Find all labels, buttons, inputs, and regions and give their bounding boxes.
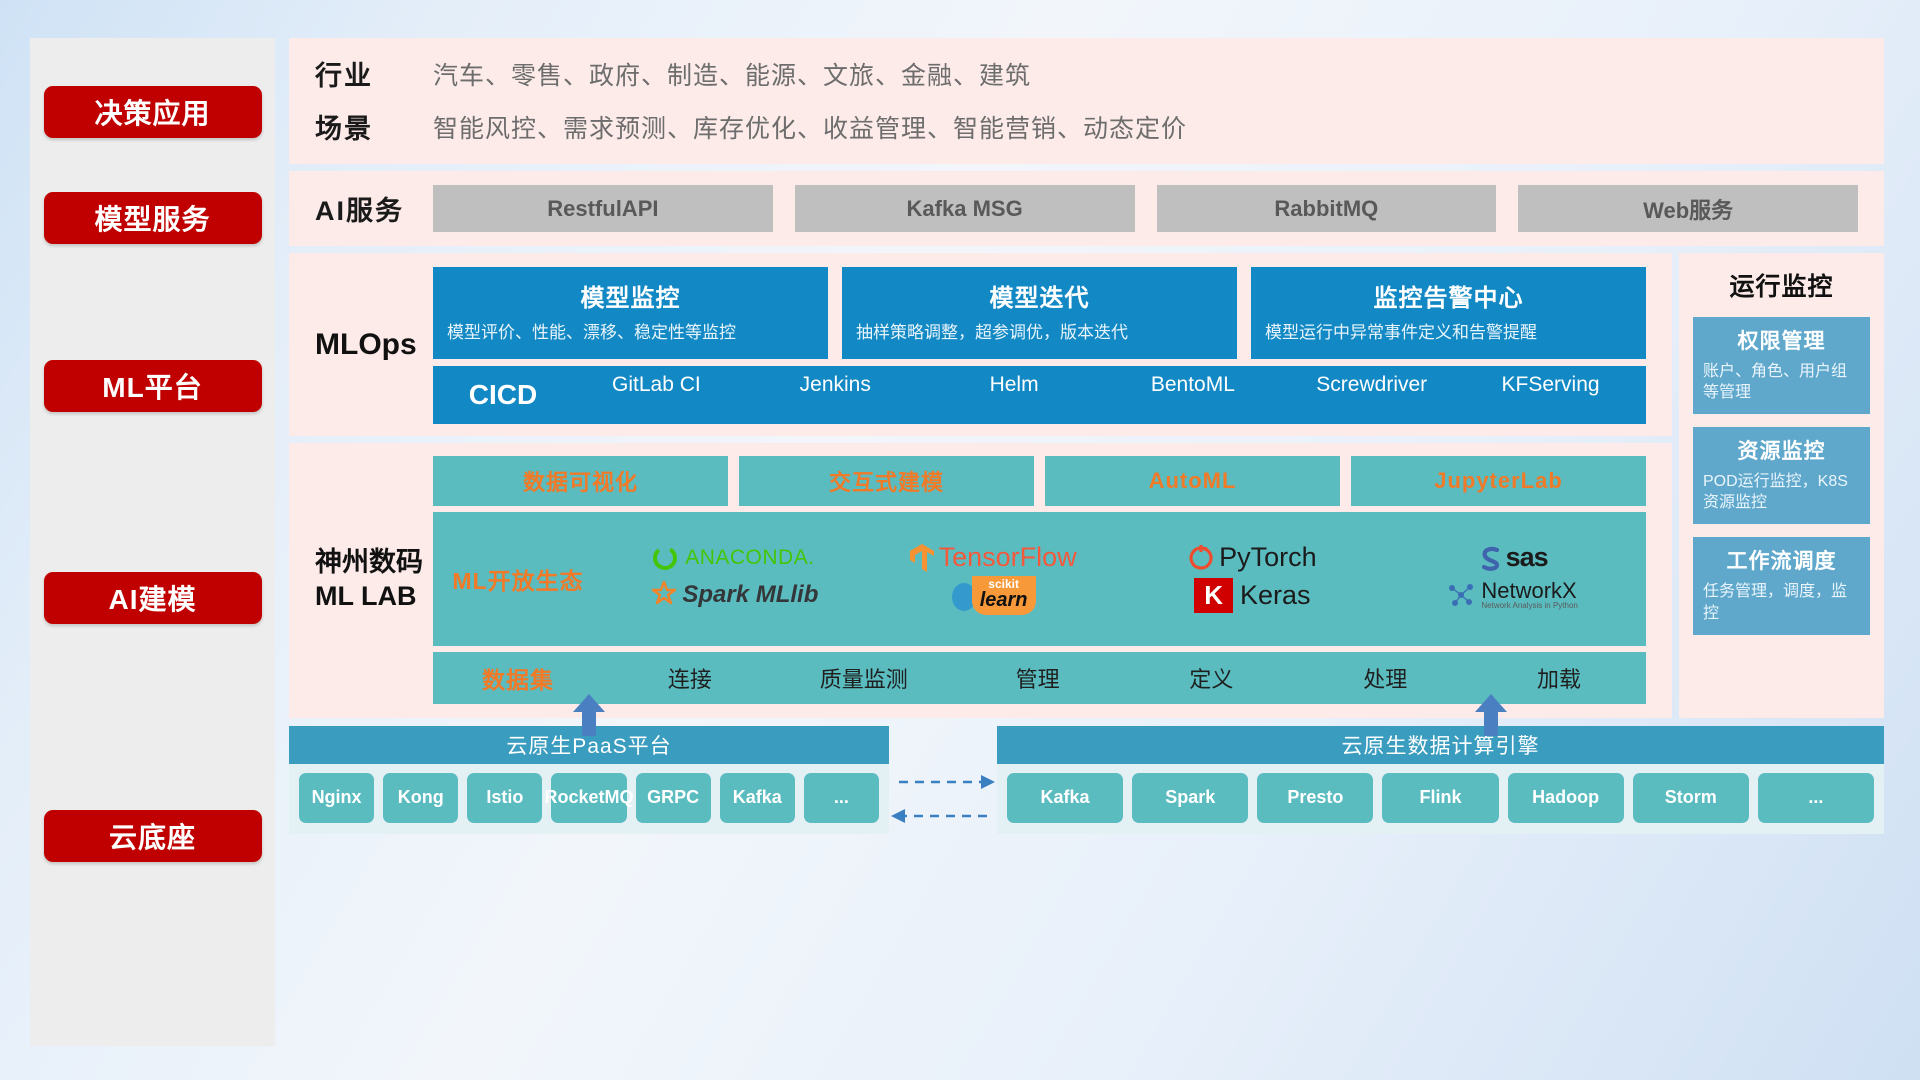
card-title: 模型迭代 [856, 278, 1223, 313]
rail-item-cloud-base[interactable]: 云底座 [44, 810, 262, 862]
cicd-item-jenkins[interactable]: Jenkins [746, 372, 925, 418]
card-desc: 抽样策略调整，超参调优，版本迭代 [856, 322, 1223, 345]
dataset-item-load[interactable]: 加载 [1472, 662, 1646, 694]
dataset-item-manage[interactable]: 管理 [951, 662, 1125, 694]
ml-lab-band: 神州数码 ML LAB 数据可视化 交互式建模 AutoML JupyterLa… [289, 443, 1672, 718]
card-title: 权限管理 [1703, 325, 1860, 355]
compute-chip-hadoop[interactable]: Hadoop [1508, 773, 1624, 823]
cicd-row: CICD GitLab CI Jenkins Helm BentoML Scre… [433, 366, 1646, 424]
paas-chip-kong[interactable]: Kong [383, 773, 458, 823]
anaconda-label: ANACONDA. [685, 546, 814, 570]
rail-item-model-service[interactable]: 模型服务 [44, 192, 262, 244]
scikit-learn-logo: scikit learn [950, 575, 1036, 615]
ai-service-band: AI服务 RestfulAPI Kafka MSG RabbitMQ Web服务 [289, 171, 1884, 246]
ml-lab-label-line1: 神州数码 [315, 546, 423, 579]
scenario-value: 智能风控、需求预测、库存优化、收益管理、智能营销、动态定价 [433, 109, 1187, 145]
layer-rail: 决策应用 模型服务 ML平台 AI建模 云底座 [30, 38, 275, 1046]
cloud-base-band: 云原生PaaS平台 Nginx Kong Istio RocketMQ GRPC… [289, 726, 1884, 858]
paas-chip-more[interactable]: ... [804, 773, 879, 823]
cicd-label: CICD [439, 379, 567, 411]
spark-label: Spark MLlib [682, 581, 818, 609]
spark-mllib-logo: Spark MLlib [647, 581, 818, 609]
card-title: 工作流调度 [1703, 545, 1860, 575]
runtime-monitor-title: 运行监控 [1693, 267, 1870, 303]
cicd-item-bentoml[interactable]: BentoML [1103, 372, 1282, 418]
dataset-item-define[interactable]: 定义 [1124, 662, 1298, 694]
compute-engine-pane: 云原生数据计算引擎 Kafka Spark Presto Flink Hadoo… [997, 726, 1884, 834]
ai-service-restfulapi[interactable]: RestfulAPI [433, 185, 773, 232]
rail-item-ai-modeling[interactable]: AI建模 [44, 572, 262, 624]
card-title: 监控告警中心 [1265, 278, 1632, 313]
ai-service-label: AI服务 [315, 189, 433, 228]
compute-chip-flink[interactable]: Flink [1382, 773, 1498, 823]
rail-item-decision-app[interactable]: 决策应用 [44, 86, 262, 138]
scenario-label: 场景 [315, 107, 433, 146]
card-title: 资源监控 [1703, 435, 1860, 465]
paas-chip-istio[interactable]: Istio [467, 773, 542, 823]
tool-automl[interactable]: AutoML [1045, 456, 1340, 506]
runtime-monitor-panel: 运行监控 权限管理 账户、角色、用户组等管理 资源监控 POD运行监控，K8S资… [1679, 253, 1884, 718]
compute-engine-title: 云原生数据计算引擎 [997, 726, 1884, 764]
compute-chip-kafka[interactable]: Kafka [1007, 773, 1123, 823]
monitor-card-resource[interactable]: 资源监控 POD运行监控，K8S资源监控 [1693, 427, 1870, 524]
compute-chip-spark[interactable]: Spark [1132, 773, 1248, 823]
mlops-label: MLOps [315, 267, 433, 424]
industry-value: 汽车、零售、政府、制造、能源、文旅、金融、建筑 [433, 56, 1031, 92]
decision-app-band: 行业 汽车、零售、政府、制造、能源、文旅、金融、建筑 场景 智能风控、需求预测、… [289, 38, 1884, 164]
scikit-learn-label: learn [980, 590, 1028, 610]
pytorch-label: PyTorch [1219, 542, 1317, 573]
industry-row: 行业 汽车、零售、政府、制造、能源、文旅、金融、建筑 [315, 54, 1858, 93]
mlops-band: MLOps 模型监控 模型评价、性能、漂移、稳定性等监控 模型迭代 抽样策略调整… [289, 253, 1672, 436]
tensorflow-logo: TensorFlow [909, 542, 1077, 573]
tool-jupyterlab[interactable]: JupyterLab [1351, 456, 1646, 506]
industry-label: 行业 [315, 54, 433, 93]
dataset-item-process[interactable]: 处理 [1298, 662, 1472, 694]
ml-lab-label: 神州数码 ML LAB [315, 456, 433, 704]
arrow-up-compute-icon [1473, 694, 1509, 736]
ml-ecosystem-label: ML开放生态 [433, 562, 603, 596]
ml-ecosystem-row: ML开放生态 ANACONDA. TensorF [433, 512, 1646, 646]
dataset-row: 数据集 连接 质量监测 管理 定义 处理 加载 [433, 652, 1646, 704]
card-desc: 模型运行中异常事件定义和告警提醒 [1265, 322, 1632, 345]
compute-chip-storm[interactable]: Storm [1633, 773, 1749, 823]
sas-label: sas [1506, 542, 1548, 573]
mlops-card-model-monitoring[interactable]: 模型监控 模型评价、性能、漂移、稳定性等监控 [433, 267, 828, 359]
arrow-up-paas-icon [571, 694, 607, 736]
keras-label: Keras [1240, 580, 1311, 611]
diagram-canvas: 决策应用 模型服务 ML平台 AI建模 云底座 行业 汽车、零售、政府、制造、能… [0, 0, 1920, 1080]
ai-service-rabbitmq[interactable]: RabbitMQ [1157, 185, 1497, 232]
card-desc: POD运行监控，K8S资源监控 [1703, 471, 1860, 513]
ml-lab-label-line2: ML LAB [315, 580, 423, 613]
card-desc: 任务管理，调度，监控 [1703, 581, 1860, 623]
dataset-item-quality[interactable]: 质量监测 [777, 662, 951, 694]
cicd-item-gitlab-ci[interactable]: GitLab CI [567, 372, 746, 418]
tool-data-visualization[interactable]: 数据可视化 [433, 456, 728, 506]
card-title: 模型监控 [447, 278, 814, 313]
anaconda-logo: ANACONDA. [651, 544, 814, 572]
pytorch-logo: PyTorch [1188, 542, 1317, 573]
tool-interactive-modeling[interactable]: 交互式建模 [739, 456, 1034, 506]
monitor-card-workflow[interactable]: 工作流调度 任务管理，调度，监控 [1693, 537, 1870, 634]
card-desc: 模型评价、性能、漂移、稳定性等监控 [447, 322, 814, 345]
mlops-card-alert-center[interactable]: 监控告警中心 模型运行中异常事件定义和告警提醒 [1251, 267, 1646, 359]
paas-pane: 云原生PaaS平台 Nginx Kong Istio RocketMQ GRPC… [289, 726, 889, 834]
diagram-body: 行业 汽车、零售、政府、制造、能源、文旅、金融、建筑 场景 智能风控、需求预测、… [289, 38, 1884, 1046]
scenario-row: 场景 智能风控、需求预测、库存优化、收益管理、智能营销、动态定价 [315, 107, 1858, 146]
cicd-item-kfserving[interactable]: KFServing [1461, 372, 1640, 418]
dataset-label: 数据集 [433, 661, 603, 695]
ai-service-kafka-msg[interactable]: Kafka MSG [795, 185, 1135, 232]
cicd-item-screwdriver[interactable]: Screwdriver [1282, 372, 1461, 418]
sas-logo: sas [1477, 542, 1548, 573]
keras-logo: K Keras [1194, 578, 1310, 613]
networkx-logo: NetworkX Network Analysis in Python [1446, 580, 1578, 610]
paas-chip-rocketmq[interactable]: RocketMQ [551, 773, 626, 823]
ai-service-web[interactable]: Web服务 [1518, 185, 1858, 232]
paas-chip-nginx[interactable]: Nginx [299, 773, 374, 823]
platform-modeling-area: MLOps 模型监控 模型评价、性能、漂移、稳定性等监控 模型迭代 抽样策略调整… [289, 253, 1884, 718]
paas-chip-grpc[interactable]: GRPC [636, 773, 711, 823]
compute-chip-more[interactable]: ... [1758, 773, 1874, 823]
tensorflow-label: TensorFlow [939, 542, 1077, 573]
paas-chip-kafka[interactable]: Kafka [720, 773, 795, 823]
cicd-item-helm[interactable]: Helm [925, 372, 1104, 418]
mlops-card-model-iteration[interactable]: 模型迭代 抽样策略调整，超参调优，版本迭代 [842, 267, 1237, 359]
monitor-card-permission[interactable]: 权限管理 账户、角色、用户组等管理 [1693, 317, 1870, 414]
card-desc: 账户、角色、用户组等管理 [1703, 361, 1860, 403]
networkx-label: NetworkX [1481, 580, 1578, 602]
compute-chip-presto[interactable]: Presto [1257, 773, 1373, 823]
dataset-item-connect[interactable]: 连接 [603, 662, 777, 694]
rail-item-ml-platform[interactable]: ML平台 [44, 360, 262, 412]
